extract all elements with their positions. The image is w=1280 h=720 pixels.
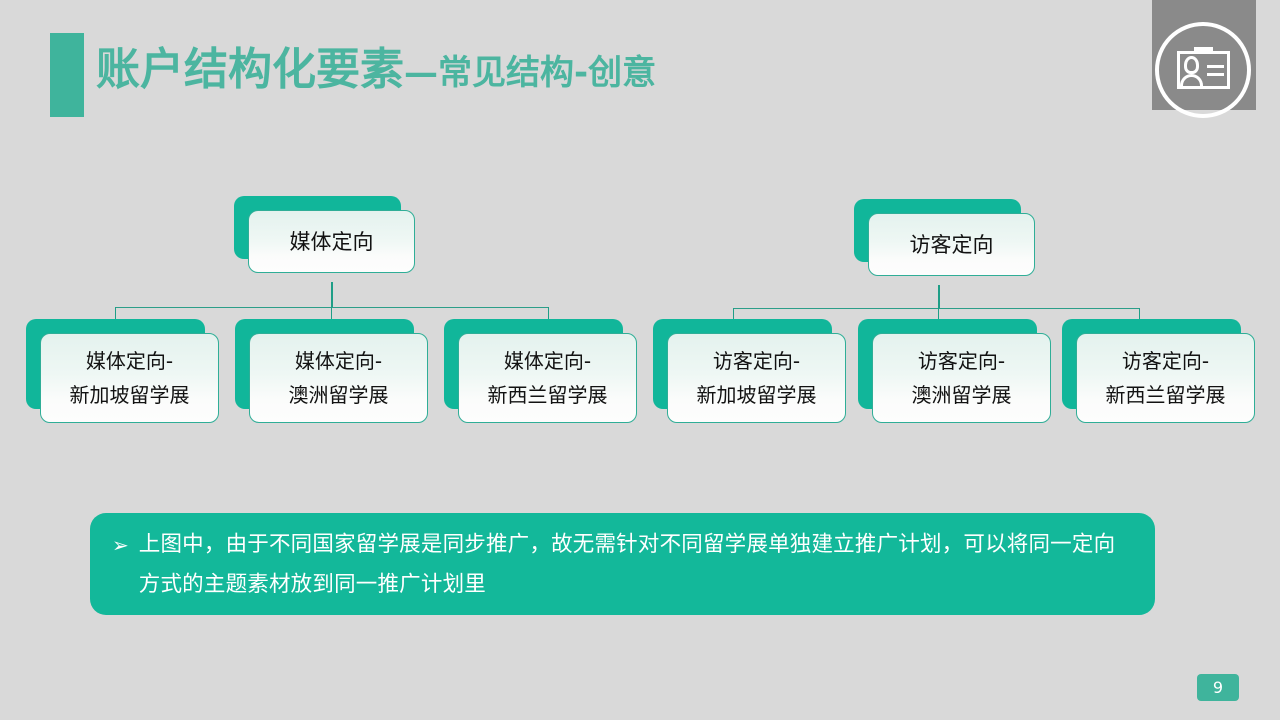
callout-row: ➢ 上图中，由于不同国家留学展是同步推广，故无需针对不同留学展单独建立推广计划，…: [112, 525, 1129, 605]
page-number-badge: 9: [1197, 674, 1239, 701]
id-card-text-line-icon: [1207, 73, 1224, 76]
node-media-targeting-australia[interactable]: 媒体定向- 澳洲留学展: [235, 319, 414, 409]
page-title: 账户结构化要素—常见结构-创意: [96, 38, 656, 105]
connector-bus-left: [115, 307, 549, 308]
node-visitor-targeting[interactable]: 访客定向: [854, 199, 1021, 262]
node-face: 媒体定向- 澳洲留学展: [249, 333, 428, 423]
node-face: 访客定向- 新西兰留学展: [1076, 333, 1255, 423]
node-face: 访客定向: [868, 213, 1035, 276]
id-card-text-line-icon: [1207, 65, 1224, 68]
node-visitor-targeting-australia[interactable]: 访客定向- 澳洲留学展: [858, 319, 1037, 409]
node-label: 媒体定向: [290, 224, 374, 260]
callout-text: 上图中，由于不同国家留学展是同步推广，故无需针对不同留学展单独建立推广计划，可以…: [139, 525, 1129, 605]
node-label-line2: 新西兰留学展: [1106, 378, 1226, 412]
node-label-line2: 新加坡留学展: [70, 378, 190, 412]
slide-header: 账户结构化要素—常见结构-创意: [0, 0, 1280, 140]
connector-parent-stem-left: [331, 282, 333, 308]
node-label-line1: 媒体定向-: [86, 344, 173, 378]
node-label-line2: 新西兰留学展: [488, 378, 608, 412]
page-title-main: 账户结构化要素: [96, 44, 404, 95]
node-face: 媒体定向- 新西兰留学展: [458, 333, 637, 423]
arrow-bullet-icon: ➢: [112, 525, 129, 565]
node-label-line1: 媒体定向-: [295, 344, 382, 378]
callout-box: ➢ 上图中，由于不同国家留学展是同步推广，故无需针对不同留学展单独建立推广计划，…: [90, 513, 1155, 615]
title-accent-bar: [50, 33, 84, 117]
node-visitor-targeting-singapore[interactable]: 访客定向- 新加坡留学展: [653, 319, 832, 409]
node-media-targeting[interactable]: 媒体定向: [234, 196, 401, 259]
page-title-sub: —常见结构-创意: [404, 53, 656, 93]
node-face: 媒体定向: [248, 210, 415, 273]
node-label-line2: 新加坡留学展: [697, 378, 817, 412]
node-label-line1: 访客定向-: [713, 344, 800, 378]
node-face: 访客定向- 澳洲留学展: [872, 333, 1051, 423]
node-label-line2: 澳洲留学展: [289, 378, 389, 412]
node-media-targeting-singapore[interactable]: 媒体定向- 新加坡留学展: [26, 319, 205, 409]
person-head-icon: [1184, 56, 1199, 74]
node-label: 访客定向: [910, 227, 994, 263]
node-face: 访客定向- 新加坡留学展: [667, 333, 846, 423]
node-media-targeting-newzealand[interactable]: 媒体定向- 新西兰留学展: [444, 319, 623, 409]
connector-parent-stem-right: [938, 285, 940, 309]
node-visitor-targeting-newzealand[interactable]: 访客定向- 新西兰留学展: [1062, 319, 1241, 409]
connector-bus-right: [733, 308, 1139, 309]
node-label-line1: 访客定向-: [1122, 344, 1209, 378]
node-face: 媒体定向- 新加坡留学展: [40, 333, 219, 423]
node-label-line2: 澳洲留学展: [912, 378, 1012, 412]
node-label-line1: 媒体定向-: [504, 344, 591, 378]
node-label-line1: 访客定向-: [918, 344, 1005, 378]
